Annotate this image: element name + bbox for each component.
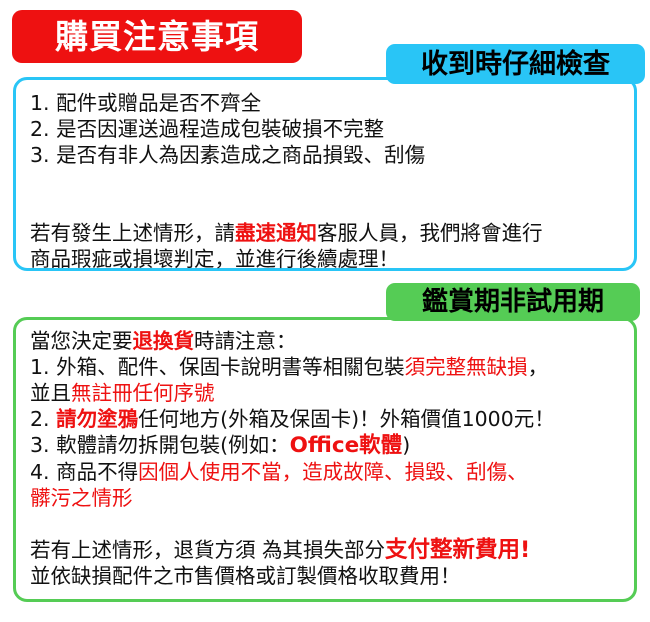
footer-text-highlight: 支付整新費用! xyxy=(385,537,530,563)
section-tab-label-return-policy: 鑑賞期非試用期 xyxy=(422,289,604,315)
list-item-text: 外箱、配件、保固卡說明書等相關包裝 xyxy=(56,355,405,379)
intro-text-highlight: 退換貨 xyxy=(133,329,195,353)
list-item-text: 任何地方(外箱及保固卡)！外箱價值1000元！ xyxy=(138,407,555,431)
page-title-badge: 購買注意事項 xyxy=(12,10,302,63)
section-box-inspect-on-arrival: 1. 配件或贈品是否不齊全 2. 是否因運送過程造成包裝破損不完整 3. 是否有… xyxy=(13,77,637,271)
inspect-list-container: 1. 配件或贈品是否不齊全 2. 是否因運送過程造成包裝破損不完整 3. 是否有… xyxy=(16,80,634,272)
list-item: 3. 軟體請勿拆開包裝(例如：Office軟體) xyxy=(30,432,634,459)
list-item-number: 2. xyxy=(30,407,50,431)
list-item-text: 並且 xyxy=(30,381,71,405)
section-tab-label-inspect-on-arrival: 收到時仔細檢查 xyxy=(421,51,610,78)
footer-text: 並依缺損配件之市售價格或訂製價格收取費用！ xyxy=(30,564,461,588)
note-text-highlight: 盡速通知 xyxy=(235,221,317,245)
list-item: 2. 是否因運送過程造成包裝破損不完整 xyxy=(30,116,634,142)
list-item-highlight: 請勿塗鴉 xyxy=(56,407,138,431)
section-tab-return-policy: 鑑賞期非試用期 xyxy=(386,283,640,321)
page-title: 購買注意事項 xyxy=(55,20,259,53)
list-item-highlight: 髒污之情形 xyxy=(30,486,133,510)
list-item-continuation: 髒污之情形 xyxy=(30,485,634,511)
section-box-return-policy: 當您決定要退換貨時請注意： 1. 外箱、配件、保固卡說明書等相關包裝須完整無缺損… xyxy=(13,317,637,602)
list-item-highlight: Office軟體 xyxy=(290,433,403,458)
list-item-text: 是否因運送過程造成包裝破損不完整 xyxy=(56,117,384,141)
list-item-highlight: 無註冊任何序號 xyxy=(71,381,215,405)
list-item-text: 是否有非人為因素造成之商品損毀、刮傷 xyxy=(56,143,425,167)
return-policy-intro: 當您決定要退換貨時請注意： xyxy=(30,328,634,354)
list-item-text-tail: ) xyxy=(402,433,410,457)
list-item: 2. 請勿塗鴉任何地方(外箱及保固卡)！外箱價值1000元！ xyxy=(30,406,634,432)
list-item: 1. 外箱、配件、保固卡說明書等相關包裝須完整無缺損， xyxy=(30,354,634,380)
list-item-text: 配件或贈品是否不齊全 xyxy=(56,91,261,115)
list-item-highlight: 因個人使用不當，造成故障、損毀、刮傷、 xyxy=(138,460,528,484)
return-policy-list-container: 當您決定要退換貨時請注意： 1. 外箱、配件、保固卡說明書等相關包裝須完整無缺損… xyxy=(16,320,634,589)
list-item: 3. 是否有非人為因素造成之商品損毀、刮傷 xyxy=(30,142,634,168)
list-item-number: 1. xyxy=(30,91,50,115)
footer-text-before: 若有上述情形，退貨方須 為其損失部分 xyxy=(30,538,385,562)
list-item-text-tail: ， xyxy=(528,355,549,379)
note-text-after: 客服人員，我們將會進行 xyxy=(317,221,543,245)
list-item-highlight: 須完整無缺損 xyxy=(405,355,528,379)
list-item-number: 4. xyxy=(30,460,50,484)
list-item: 1. 配件或贈品是否不齊全 xyxy=(30,90,634,116)
list-item-text: 軟體請勿拆開包裝(例如： xyxy=(56,433,290,457)
list-item-number: 3. xyxy=(30,143,50,167)
note-text: 商品瑕疵或損壞判定，並進行後續處理！ xyxy=(30,247,399,271)
list-item-text: 商品不得 xyxy=(56,460,138,484)
list-spacer xyxy=(30,168,634,194)
return-policy-footer-line-1: 若有上述情形，退貨方須 為其損失部分支付整新費用! xyxy=(30,537,634,563)
inspect-note-line-2: 商品瑕疵或損壞判定，並進行後續處理！ xyxy=(30,246,634,272)
intro-text-before: 當您決定要 xyxy=(30,329,133,353)
return-policy-footer-line-2: 並依缺損配件之市售價格或訂製價格收取費用！ xyxy=(30,563,634,589)
list-spacer xyxy=(30,511,634,537)
list-item-continuation: 並且無註冊任何序號 xyxy=(30,380,634,406)
intro-text-after: 時請注意： xyxy=(194,329,297,353)
list-item-number: 1. xyxy=(30,355,50,379)
list-item: 4. 商品不得因個人使用不當，造成故障、損毀、刮傷、 xyxy=(30,459,634,485)
list-item-number: 3. xyxy=(30,433,50,457)
list-item-number: 2. xyxy=(30,117,50,141)
list-spacer xyxy=(30,194,634,220)
inspect-note-line-1: 若有發生上述情形，請盡速通知客服人員，我們將會進行 xyxy=(30,220,634,246)
section-tab-inspect-on-arrival: 收到時仔細檢查 xyxy=(386,44,645,84)
note-text-before: 若有發生上述情形，請 xyxy=(30,221,235,245)
